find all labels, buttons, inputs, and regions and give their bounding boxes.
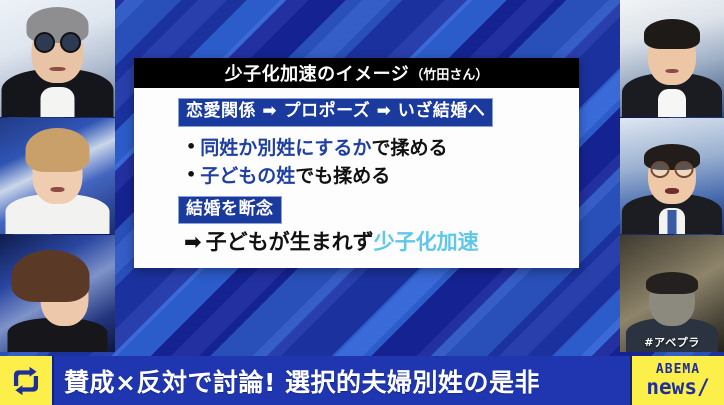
bullet-text-plain: でも揉める (295, 165, 390, 187)
resign-row: 結婚を断念 (178, 196, 579, 225)
bullet-item-1: •同姓か別姓にするかで揉める (186, 134, 579, 163)
glasses-icon (34, 32, 81, 53)
right-panel-rail: #アベプラ (620, 0, 724, 350)
card-body: 恋愛関係 ➡ プロポーズ ➡ いざ結婚へ •同姓か別姓にするかで揉める •子ども… (134, 88, 579, 268)
banner-headline: 賛成×反対で討論! 選択的夫婦別姓の是非 (64, 363, 540, 399)
card-title: 少子化加速のイメージ (225, 60, 410, 86)
cycle-arrows-icon (9, 364, 43, 398)
bullet-text-plain: で揉める (371, 137, 447, 159)
result-text-accent: 少子化加速 (374, 230, 479, 254)
panel-guest-woman-bob[interactable] (0, 117, 115, 235)
panel-host-man[interactable] (620, 0, 724, 117)
bullet-dot: • (186, 137, 196, 156)
glasses-icon (651, 161, 694, 178)
abema-news-logo: ABEMA news/ (632, 356, 724, 405)
left-panel-rail (0, 0, 115, 350)
lower-third-banner: 賛成×反対で討論! 選択的夫婦別姓の是非 ABEMA news/ (0, 356, 724, 405)
person-figure (0, 117, 115, 234)
resign-chip: 結婚を断念 (178, 196, 282, 225)
logo-news-text: news/ (646, 377, 709, 398)
panel-guest-woman-updo[interactable] (0, 234, 115, 352)
result-line: ➡子どもが生まれず少子化加速 (184, 228, 579, 256)
banner-headline-area: 賛成×反対で討論! 選択的夫婦別姓の是非 (52, 356, 632, 405)
bullet-text-highlight: 子どもの姓 (200, 165, 295, 187)
card-header: 少子化加速のイメージ （竹田さん） (134, 58, 579, 88)
person-figure (0, 235, 115, 352)
card-attribution: （竹田さん） (410, 64, 488, 83)
bullet-dot: • (186, 165, 196, 184)
broadcast-screen: #アベプラ 少子化加速のイメージ （竹田さん） 恋愛関係 ➡ プロポーズ ➡ い… (0, 0, 724, 405)
bullet-item-2: •子どもの姓でも揉める (186, 162, 579, 191)
bullet-text-highlight: 同姓か別姓にするか (200, 137, 371, 159)
hashtag-overlay: #アベプラ (620, 334, 724, 350)
person-figure (0, 0, 115, 117)
result-text-plain: 子どもが生まれず (206, 230, 374, 254)
panel-remote-guest[interactable]: #アベプラ (620, 234, 724, 352)
info-card: 少子化加速のイメージ （竹田さん） 恋愛関係 ➡ プロポーズ ➡ いざ結婚へ •… (134, 58, 579, 268)
flow-chip: 恋愛関係 ➡ プロポーズ ➡ いざ結婚へ (178, 98, 493, 127)
arrow-right-icon: ➡ (184, 230, 202, 254)
panel-guest-man-glasses[interactable] (0, 0, 115, 117)
person-figure (620, 0, 724, 117)
banner-icon-slot (0, 356, 52, 405)
flow-row: 恋愛関係 ➡ プロポーズ ➡ いざ結婚へ (178, 98, 579, 127)
panel-commentator-glasses[interactable] (620, 117, 724, 235)
person-figure (620, 117, 724, 234)
